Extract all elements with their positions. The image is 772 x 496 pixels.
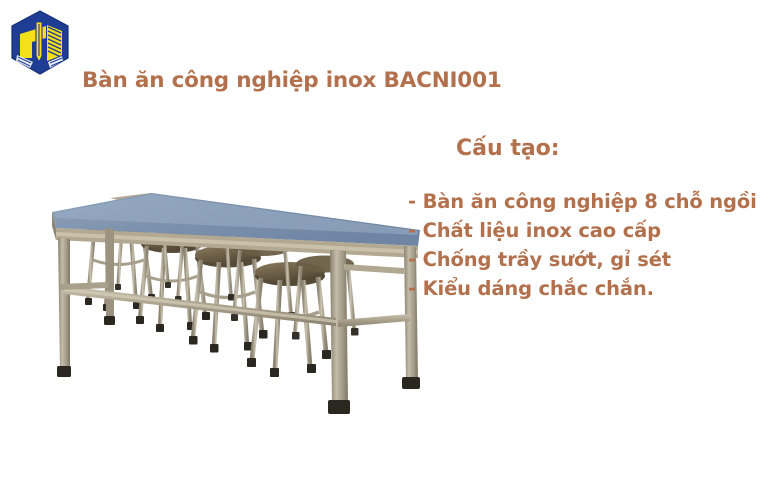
- hexagon-logo-icon: [6, 8, 74, 78]
- page-title: Bàn ăn công nghiệp inox BACNI001: [82, 68, 502, 93]
- brand-logo: [6, 8, 74, 78]
- list-item: - Kiểu dáng chắc chắn.: [408, 274, 772, 303]
- specs-section: Cấu tạo: - Bàn ăn công nghiệp 8 chỗ ngồi…: [408, 136, 772, 303]
- specs-heading: Cấu tạo:: [456, 136, 772, 161]
- list-item: - Bàn ăn công nghiệp 8 chỗ ngồi: [408, 187, 772, 216]
- list-item: - Chống trầy sướt, gỉ sét: [408, 245, 772, 274]
- product-image: [0, 168, 420, 418]
- industrial-stainless-dining-table-illustration: [0, 168, 420, 418]
- specs-list: - Bàn ăn công nghiệp 8 chỗ ngồi - Chất l…: [408, 187, 772, 303]
- product-banner: Bàn ăn công nghiệp inox BACNI001: [0, 0, 772, 496]
- list-item: - Chất liệu inox cao cấp: [408, 216, 772, 245]
